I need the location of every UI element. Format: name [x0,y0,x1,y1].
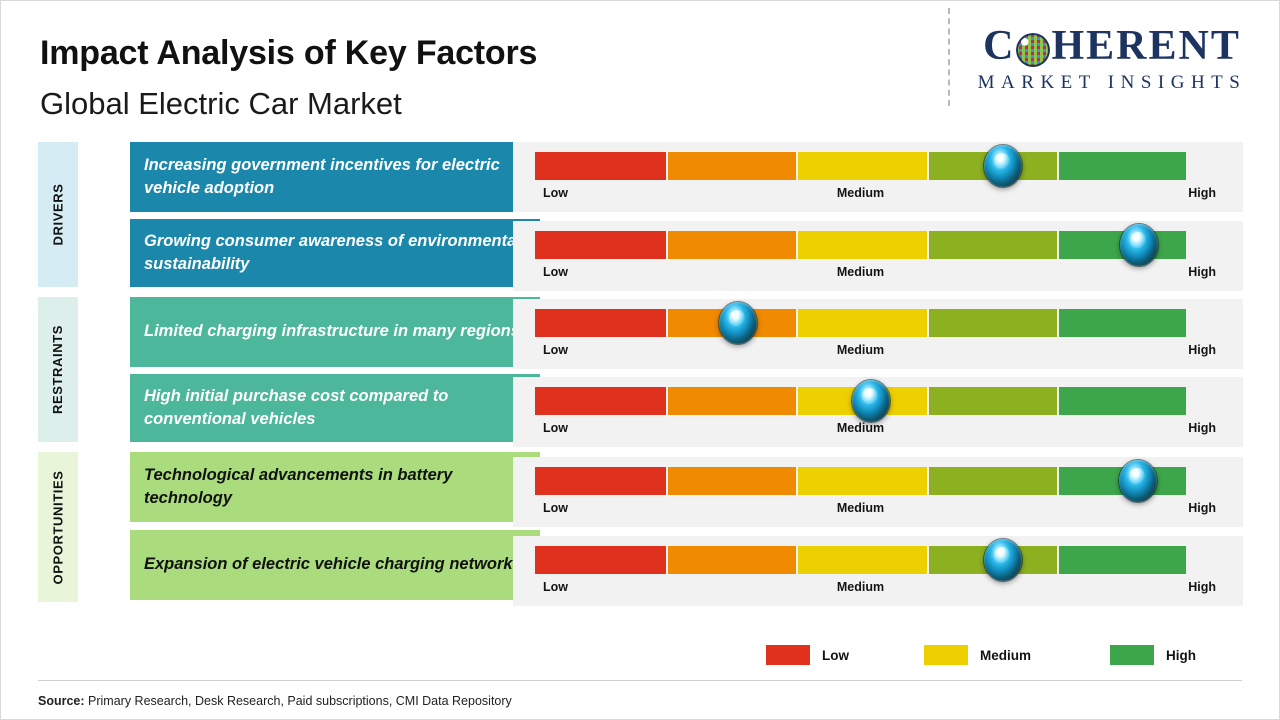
gauge-label-high: High [1188,501,1216,515]
gauge-bar [535,231,1186,259]
gauge-bar [535,467,1186,495]
category-strip-drivers: DRIVERS [38,142,78,287]
legend-item-high: High [1110,645,1196,665]
gauge-label-high: High [1188,580,1216,594]
gauge-label-medium: Medium [837,343,884,357]
gauge-label-low: Low [543,186,568,200]
factor-text: Increasing government incentives for ele… [144,154,526,201]
category-strip-restraints: RESTRAINTS [38,297,78,442]
logo-letter-c: C [983,22,1015,70]
factor-text: Growing consumer awareness of environmen… [144,230,526,277]
gauge-panel: Low Medium High [513,536,1243,606]
page-title: Impact Analysis of Key Factors [40,34,537,73]
gauge-segment-4 [929,387,1058,415]
factor-box[interactable]: Expansion of electric vehicle charging n… [130,530,540,600]
gauge-label-row: Low Medium High [535,501,1186,519]
gauge-segment-5 [1059,387,1186,415]
gauge-panel: Low Medium High [513,299,1243,369]
chart-legend: Low Medium High [766,645,1186,667]
gauge-segment-4 [929,309,1058,337]
gauge-label-high: High [1188,343,1216,357]
gauge-bar [535,152,1186,180]
legend-item-medium: Medium [924,645,1031,665]
source-label: Source: [38,694,85,708]
gauge-segment-3 [798,546,927,574]
gauge-segment-2 [668,467,797,495]
gauge-marker-icon[interactable] [984,145,1022,187]
factor-box[interactable]: Technological advancements in battery te… [130,452,540,522]
gauge-panel: Low Medium High [513,377,1243,447]
factor-box[interactable]: Growing consumer awareness of environmen… [130,219,540,287]
legend-label-medium: Medium [980,648,1031,663]
gauge-marker-icon[interactable] [852,380,890,422]
gauge-label-medium: Medium [837,580,884,594]
gauge-segment-2 [668,231,797,259]
gauge-segment-1 [535,309,666,337]
gauge-segment-3 [798,467,927,495]
legend-swatch-high [1110,645,1154,665]
gauge-label-low: Low [543,580,568,594]
gauge-label-low: Low [543,501,568,515]
gauge-marker-icon[interactable] [719,302,757,344]
factor-box[interactable]: High initial purchase cost compared to c… [130,374,540,442]
gauge-panel: Low Medium High [513,457,1243,527]
company-logo: C HERENT MARKET INSIGHTS [962,22,1262,106]
gauge-marker-icon[interactable] [1120,224,1158,266]
gauge-label-low: Low [543,265,568,279]
category-label-drivers: DRIVERS [51,184,66,246]
source-text: Primary Research, Desk Research, Paid su… [85,694,512,708]
gauge-segment-1 [535,467,666,495]
gauge-bar [535,546,1186,574]
factor-box[interactable]: Limited charging infrastructure in many … [130,297,540,367]
gauge-segment-2 [668,387,797,415]
gauge-segment-3 [798,309,927,337]
factor-text: Technological advancements in battery te… [144,464,526,511]
logo-wordmark: C HERENT [962,22,1262,70]
factor-box[interactable]: Increasing government incentives for ele… [130,142,540,212]
gauge-segment-1 [535,546,666,574]
gauge-label-low: Low [543,421,568,435]
legend-item-low: Low [766,645,849,665]
source-note: Source: Primary Research, Desk Research,… [38,694,512,708]
factor-text: High initial purchase cost compared to c… [144,385,526,432]
gauge-label-row: Low Medium High [535,580,1186,598]
gauge-label-row: Low Medium High [535,265,1186,283]
legend-swatch-medium [924,645,968,665]
category-label-restraints: RESTRAINTS [51,325,66,414]
gauge-segment-4 [929,231,1058,259]
logo-letters-herent: HERENT [1051,22,1240,70]
gauge-label-high: High [1188,421,1216,435]
legend-swatch-low [766,645,810,665]
gauge-label-low: Low [543,343,568,357]
gauge-segment-3 [798,231,927,259]
gauge-label-row: Low Medium High [535,421,1186,439]
factor-text: Limited charging infrastructure in many … [144,320,520,343]
legend-label-high: High [1166,648,1196,663]
gauge-marker-icon[interactable] [984,539,1022,581]
gauge-segment-5 [1059,309,1186,337]
legend-label-low: Low [822,648,849,663]
gauge-panel: Low Medium High [513,142,1243,212]
header-divider [948,8,950,106]
gauge-label-row: Low Medium High [535,186,1186,204]
gauge-panel: Low Medium High [513,221,1243,291]
gauge-label-medium: Medium [837,421,884,435]
gauge-segment-2 [668,152,797,180]
gauge-label-row: Low Medium High [535,343,1186,361]
gauge-label-medium: Medium [837,265,884,279]
gauge-bar [535,309,1186,337]
gauge-label-high: High [1188,265,1216,279]
gauge-segment-3 [798,152,927,180]
gauge-marker-icon[interactable] [1119,460,1157,502]
footer-divider [38,680,1242,681]
globe-icon [1016,33,1050,67]
logo-tagline: MARKET INSIGHTS [962,72,1262,94]
gauge-segment-1 [535,231,666,259]
factor-text: Expansion of electric vehicle charging n… [144,553,522,576]
gauge-segment-4 [929,467,1058,495]
gauge-label-high: High [1188,186,1216,200]
gauge-label-medium: Medium [837,501,884,515]
gauge-segment-5 [1059,546,1186,574]
gauge-segment-5 [1059,152,1186,180]
gauge-segment-1 [535,152,666,180]
category-strip-opportunities: OPPORTUNITIES [38,452,78,602]
page-subtitle: Global Electric Car Market [40,86,402,122]
gauge-segment-2 [668,546,797,574]
gauge-label-medium: Medium [837,186,884,200]
category-label-opportunities: OPPORTUNITIES [51,470,66,584]
gauge-segment-1 [535,387,666,415]
